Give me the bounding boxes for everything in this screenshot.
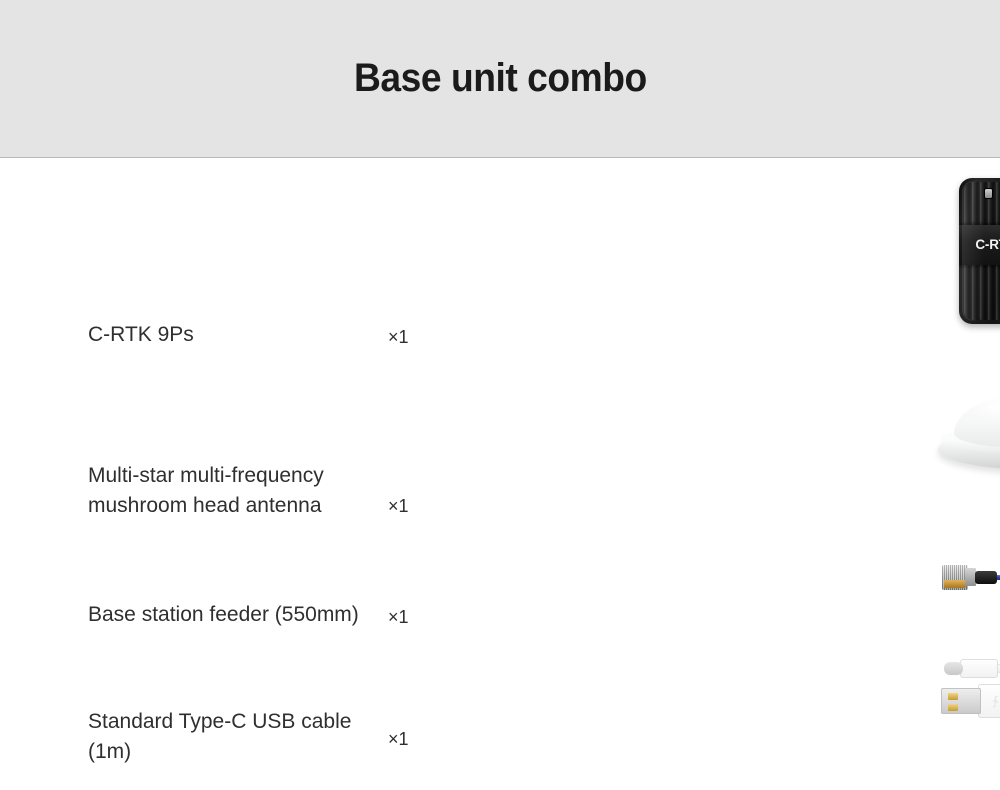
- crtk-logo: C-RTK 9Ps: [975, 237, 1000, 252]
- item-image-base-station-feeder: [448, 536, 1000, 666]
- item-quantity-mushroom-antenna: ×1: [388, 416, 448, 517]
- crtk-label-band: C-RTK 9Ps: [959, 225, 1000, 265]
- usb-a-contact-pad: [948, 693, 958, 700]
- list-item: Base station feeder (550mm) ×1: [0, 536, 1000, 666]
- list-item: Standard Type-C USB cable (1m) ×1 ∱: [0, 648, 1000, 788]
- list-item: Multi-star multi-frequency mushroom head…: [0, 386, 1000, 546]
- item-name-type-c-usb-cable: Standard Type-C USB cable (1m): [88, 669, 388, 767]
- usb-a-plug-shell: [941, 688, 981, 714]
- feeder-tnc-gold-band: [944, 580, 966, 588]
- crtk-port-icon: [985, 189, 992, 198]
- item-name-c-rtk-9ps: C-RTK 9Ps: [88, 202, 388, 350]
- item-image-type-c-usb-cable: ∱: [448, 648, 1000, 788]
- feeder-cable-illustration: [938, 556, 1000, 600]
- feeder-left-boot: [975, 571, 997, 584]
- usb-trident-icon: ∱: [992, 695, 998, 707]
- item-name-mushroom-antenna: Multi-star multi-frequency mushroom head…: [88, 411, 388, 521]
- antenna-dome: [954, 392, 1000, 448]
- item-image-mushroom-antenna: [448, 386, 1000, 546]
- list-item: C-RTK 9Ps ×1 C-RTK 9Ps: [0, 176, 1000, 376]
- item-quantity-base-station-feeder: ×1: [388, 575, 448, 628]
- item-quantity-c-rtk-9ps: ×1: [388, 205, 448, 348]
- page-title: Base unit combo: [354, 56, 647, 101]
- crtk-body: C-RTK 9Ps: [959, 178, 1000, 324]
- usb-cable-illustration: ∱: [938, 656, 1000, 726]
- package-contents-list: C-RTK 9Ps ×1 C-RTK 9Ps: [0, 158, 1000, 789]
- crtk-logo-text: C-RTK: [975, 237, 1000, 252]
- item-name-base-station-feeder: Base station feeder (550mm): [88, 572, 388, 630]
- item-quantity-type-c-usb-cable: ×1: [388, 687, 448, 750]
- usb-c-plug-tip: [944, 662, 963, 675]
- usb-a-contact-pad: [948, 704, 958, 711]
- mushroom-antenna-illustration: [938, 392, 1000, 512]
- crtk-module-illustration: C-RTK 9Ps: [959, 178, 1000, 324]
- page-header: Base unit combo: [0, 0, 1000, 158]
- usb-c-housing: [960, 659, 998, 678]
- item-image-c-rtk-9ps: C-RTK 9Ps: [448, 176, 1000, 376]
